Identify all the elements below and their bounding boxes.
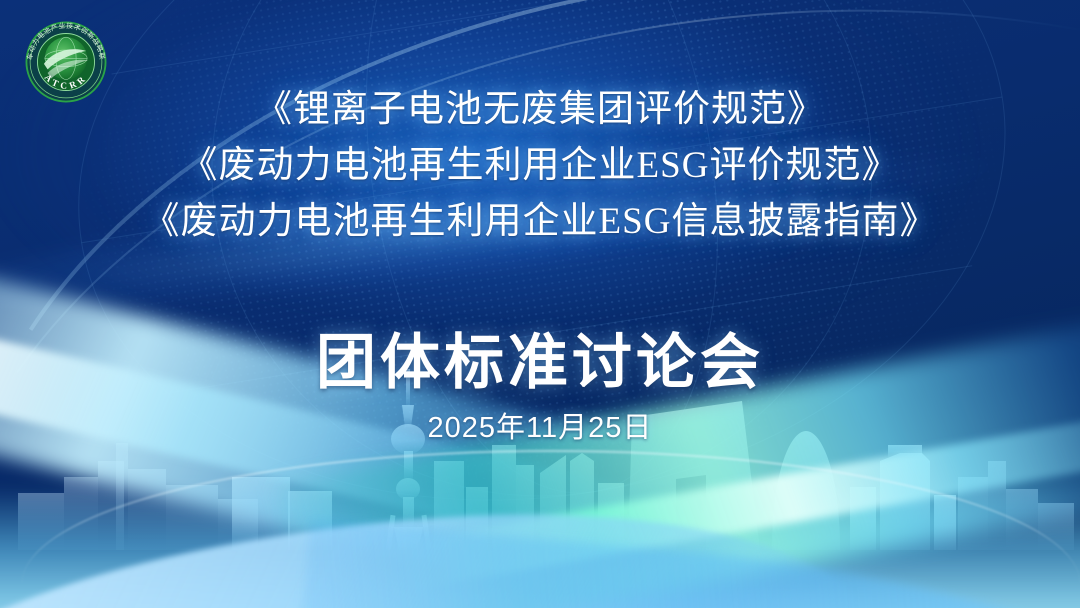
title-slide: 汽车动力电池产业技术创新战略联盟 ATCRR 《锂离子电池无废集团评价规范》 《… — [0, 0, 1080, 608]
standard-title-line-1: 《锂离子电池无废集团评价规范》 — [0, 82, 1080, 138]
standard-title-line-3: 《废动力电池再生利用企业ESG信息披露指南》 — [0, 194, 1080, 250]
standards-title-block: 《锂离子电池无废集团评价规范》 《废动力电池再生利用企业ESG评价规范》 《废动… — [0, 82, 1080, 250]
event-date: 2025年11月25日 — [0, 408, 1080, 448]
standard-title-line-2: 《废动力电池再生利用企业ESG评价规范》 — [0, 138, 1080, 194]
main-heading: 团体标准讨论会 — [0, 327, 1080, 399]
